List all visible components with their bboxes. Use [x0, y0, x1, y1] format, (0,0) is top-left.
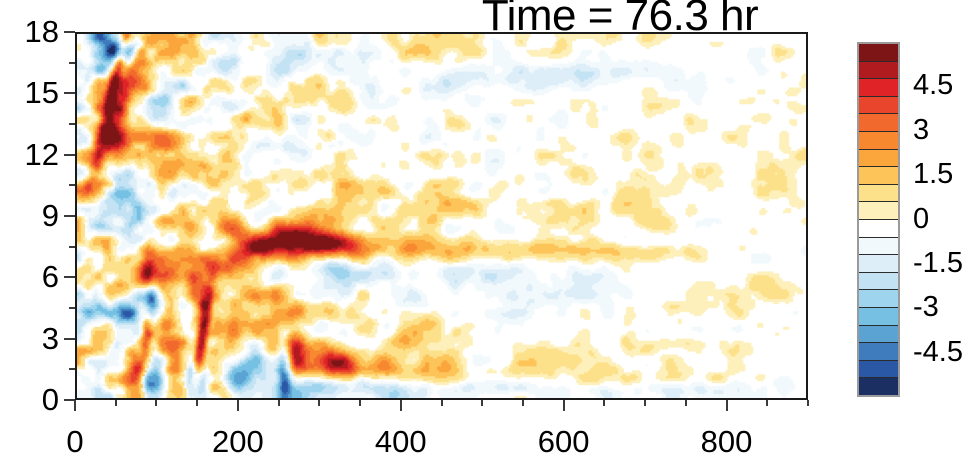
- colorbar-tick-label: -1.5: [913, 249, 963, 278]
- x-axis-minor-tick: [766, 400, 768, 406]
- colorbar-band: [859, 114, 898, 132]
- y-axis-major-tick: [64, 338, 75, 340]
- x-axis-minor-tick: [359, 400, 361, 406]
- y-axis-label: 0: [0, 384, 59, 415]
- x-axis-minor-tick: [155, 400, 157, 406]
- colorbar-band: [859, 185, 898, 203]
- x-axis-minor-tick: [115, 400, 117, 406]
- y-axis-minor-tick: [69, 368, 75, 370]
- contour-plot-area: [75, 32, 808, 400]
- y-axis-major-tick: [64, 276, 75, 278]
- field-canvas-holder: [77, 34, 806, 398]
- y-axis-minor-tick: [69, 62, 75, 64]
- colorbar-band: [859, 150, 898, 168]
- x-axis-minor-tick: [685, 400, 687, 406]
- colorbar-tick-label: 3: [913, 116, 929, 145]
- colorbar-band: [859, 62, 898, 80]
- y-axis-label: 6: [0, 261, 59, 292]
- x-axis-minor-tick: [278, 400, 280, 406]
- colorbar-band: [859, 326, 898, 344]
- colorbar-tick-label: 1.5: [913, 160, 953, 189]
- colorbar-band: [859, 79, 898, 97]
- x-axis-label: 800: [667, 426, 787, 457]
- colorbar-band: [859, 273, 898, 291]
- colorbar-tick-label: 4.5: [913, 71, 953, 100]
- x-axis-minor-tick: [441, 400, 443, 406]
- x-axis-major-tick: [74, 400, 76, 411]
- x-axis-minor-tick: [196, 400, 198, 406]
- y-axis-major-tick: [64, 154, 75, 156]
- x-axis-major-tick: [726, 400, 728, 411]
- colorbar-band: [859, 308, 898, 326]
- colorbar-band: [859, 238, 898, 256]
- colorbar-band: [859, 378, 898, 395]
- colorbar-band: [859, 290, 898, 308]
- y-axis-minor-tick: [69, 307, 75, 309]
- colorbar-band: [859, 44, 898, 62]
- y-axis-label: 3: [0, 323, 59, 354]
- x-axis-minor-tick: [318, 400, 320, 406]
- colorbar-band: [859, 167, 898, 185]
- y-axis-label: 9: [0, 200, 59, 231]
- x-axis-label: 0: [15, 426, 135, 457]
- x-axis-label: 400: [341, 426, 461, 457]
- colorbar-tick-label: 0: [913, 205, 929, 234]
- colorbar-tick-label: -3: [913, 293, 939, 322]
- y-axis-label: 15: [0, 77, 59, 108]
- x-axis-major-tick: [563, 400, 565, 411]
- y-axis-major-tick: [64, 31, 75, 33]
- y-axis-minor-tick: [69, 246, 75, 248]
- colorbar-band: [859, 97, 898, 115]
- x-axis-major-tick: [237, 400, 239, 411]
- y-axis-label: 18: [0, 16, 59, 47]
- x-axis-label: 600: [504, 426, 624, 457]
- x-axis-minor-tick: [807, 400, 809, 406]
- y-axis-label: 12: [0, 139, 59, 170]
- colorbar-tick-label: -4.5: [913, 338, 963, 367]
- y-axis-major-tick: [64, 215, 75, 217]
- y-axis-minor-tick: [69, 184, 75, 186]
- x-axis-label: 200: [178, 426, 298, 457]
- y-axis-major-tick: [64, 92, 75, 94]
- x-axis-minor-tick: [644, 400, 646, 406]
- x-axis-minor-tick: [522, 400, 524, 406]
- colorbar-band: [859, 132, 898, 150]
- colorbar-band: [859, 343, 898, 361]
- colorbar-band: [859, 255, 898, 273]
- x-axis-minor-tick: [603, 400, 605, 406]
- y-axis-minor-tick: [69, 123, 75, 125]
- colorbar-band: [859, 361, 898, 379]
- x-axis-minor-tick: [481, 400, 483, 406]
- colorbar-band: [859, 220, 898, 238]
- figure-root: Time = 76.3 hr 02004006008000369121518 4…: [0, 0, 965, 473]
- contour-field-canvas: [77, 34, 806, 398]
- colorbar-band: [859, 202, 898, 220]
- colorbar: [857, 42, 900, 397]
- x-axis-major-tick: [400, 400, 402, 411]
- y-axis-major-tick: [64, 399, 75, 401]
